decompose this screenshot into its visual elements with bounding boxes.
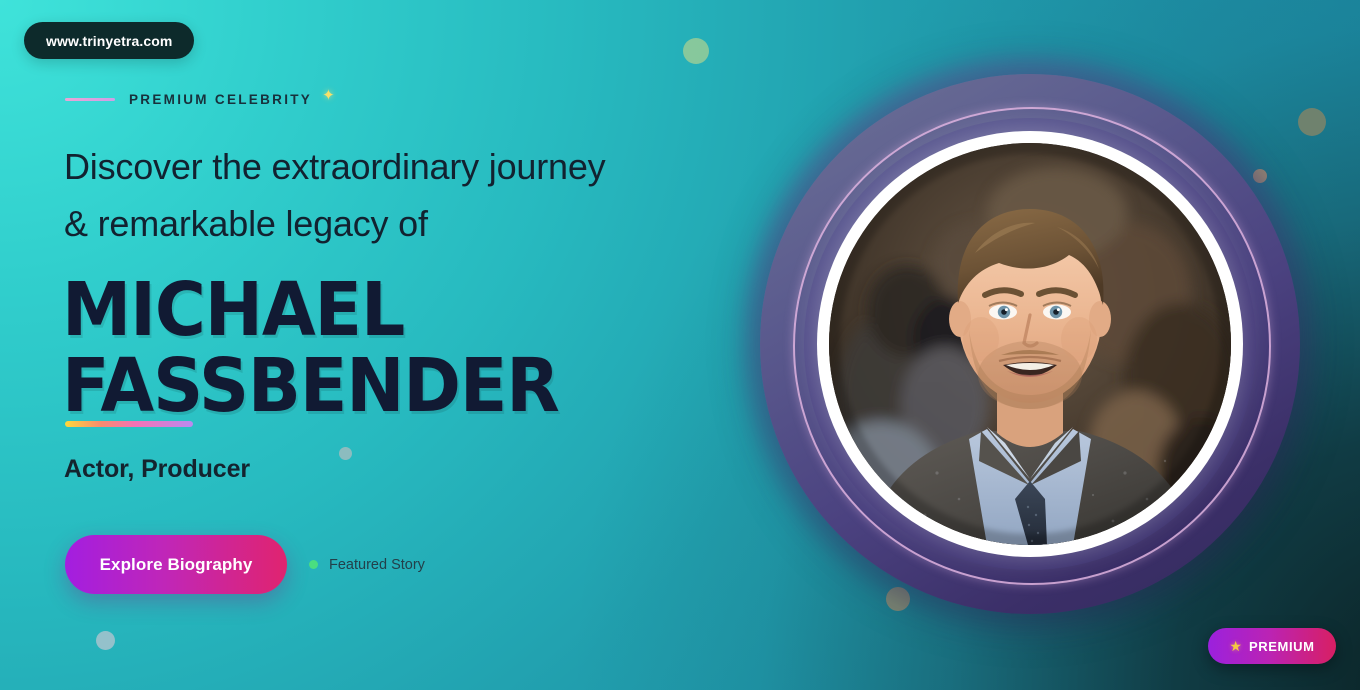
eyebrow: PREMIUM CELEBRITY ✦ [65, 92, 335, 107]
eyebrow-label: PREMIUM CELEBRITY [129, 92, 312, 107]
celebrity-last-name: FASSBENDER [62, 348, 739, 424]
explore-biography-button[interactable]: Explore Biography [65, 535, 287, 594]
premium-badge-label: PREMIUM [1249, 639, 1315, 654]
celebrity-name: MICHAEL FASSBENDER [62, 272, 739, 424]
status-dot-icon [309, 560, 318, 569]
featured-story-label: Featured Story [329, 557, 425, 573]
site-url-badge[interactable]: www.trinyetra.com [24, 22, 194, 59]
page-title: Discover the extraordinary journey & rem… [64, 138, 764, 252]
hero-banner: www.trinyetra.com PREMIUM CELEBRITY ✦ Di… [0, 0, 1360, 690]
star-icon: ★ [1229, 638, 1242, 655]
featured-story-tag[interactable]: Featured Story [309, 557, 425, 573]
celebrity-first-name: MICHAEL [62, 272, 739, 348]
cta-row: Explore Biography Featured Story [65, 535, 425, 594]
avatar [829, 143, 1231, 545]
premium-badge[interactable]: ★ PREMIUM [1208, 628, 1336, 664]
site-url-label: www.trinyetra.com [46, 33, 172, 49]
dot-blue-bottom [96, 631, 115, 650]
sparkle-icon: ✦ [322, 86, 335, 104]
celebrity-role: Actor, Producer [64, 455, 250, 484]
portrait-frame [744, 58, 1316, 630]
headline-line-1: Discover the extraordinary journey [64, 138, 764, 195]
dot-green-top [683, 38, 709, 64]
eyebrow-dash-icon [65, 98, 115, 101]
dot-grey-mid [339, 447, 352, 460]
headline-line-2: & remarkable legacy of [64, 195, 764, 252]
accent-underline [65, 421, 193, 427]
